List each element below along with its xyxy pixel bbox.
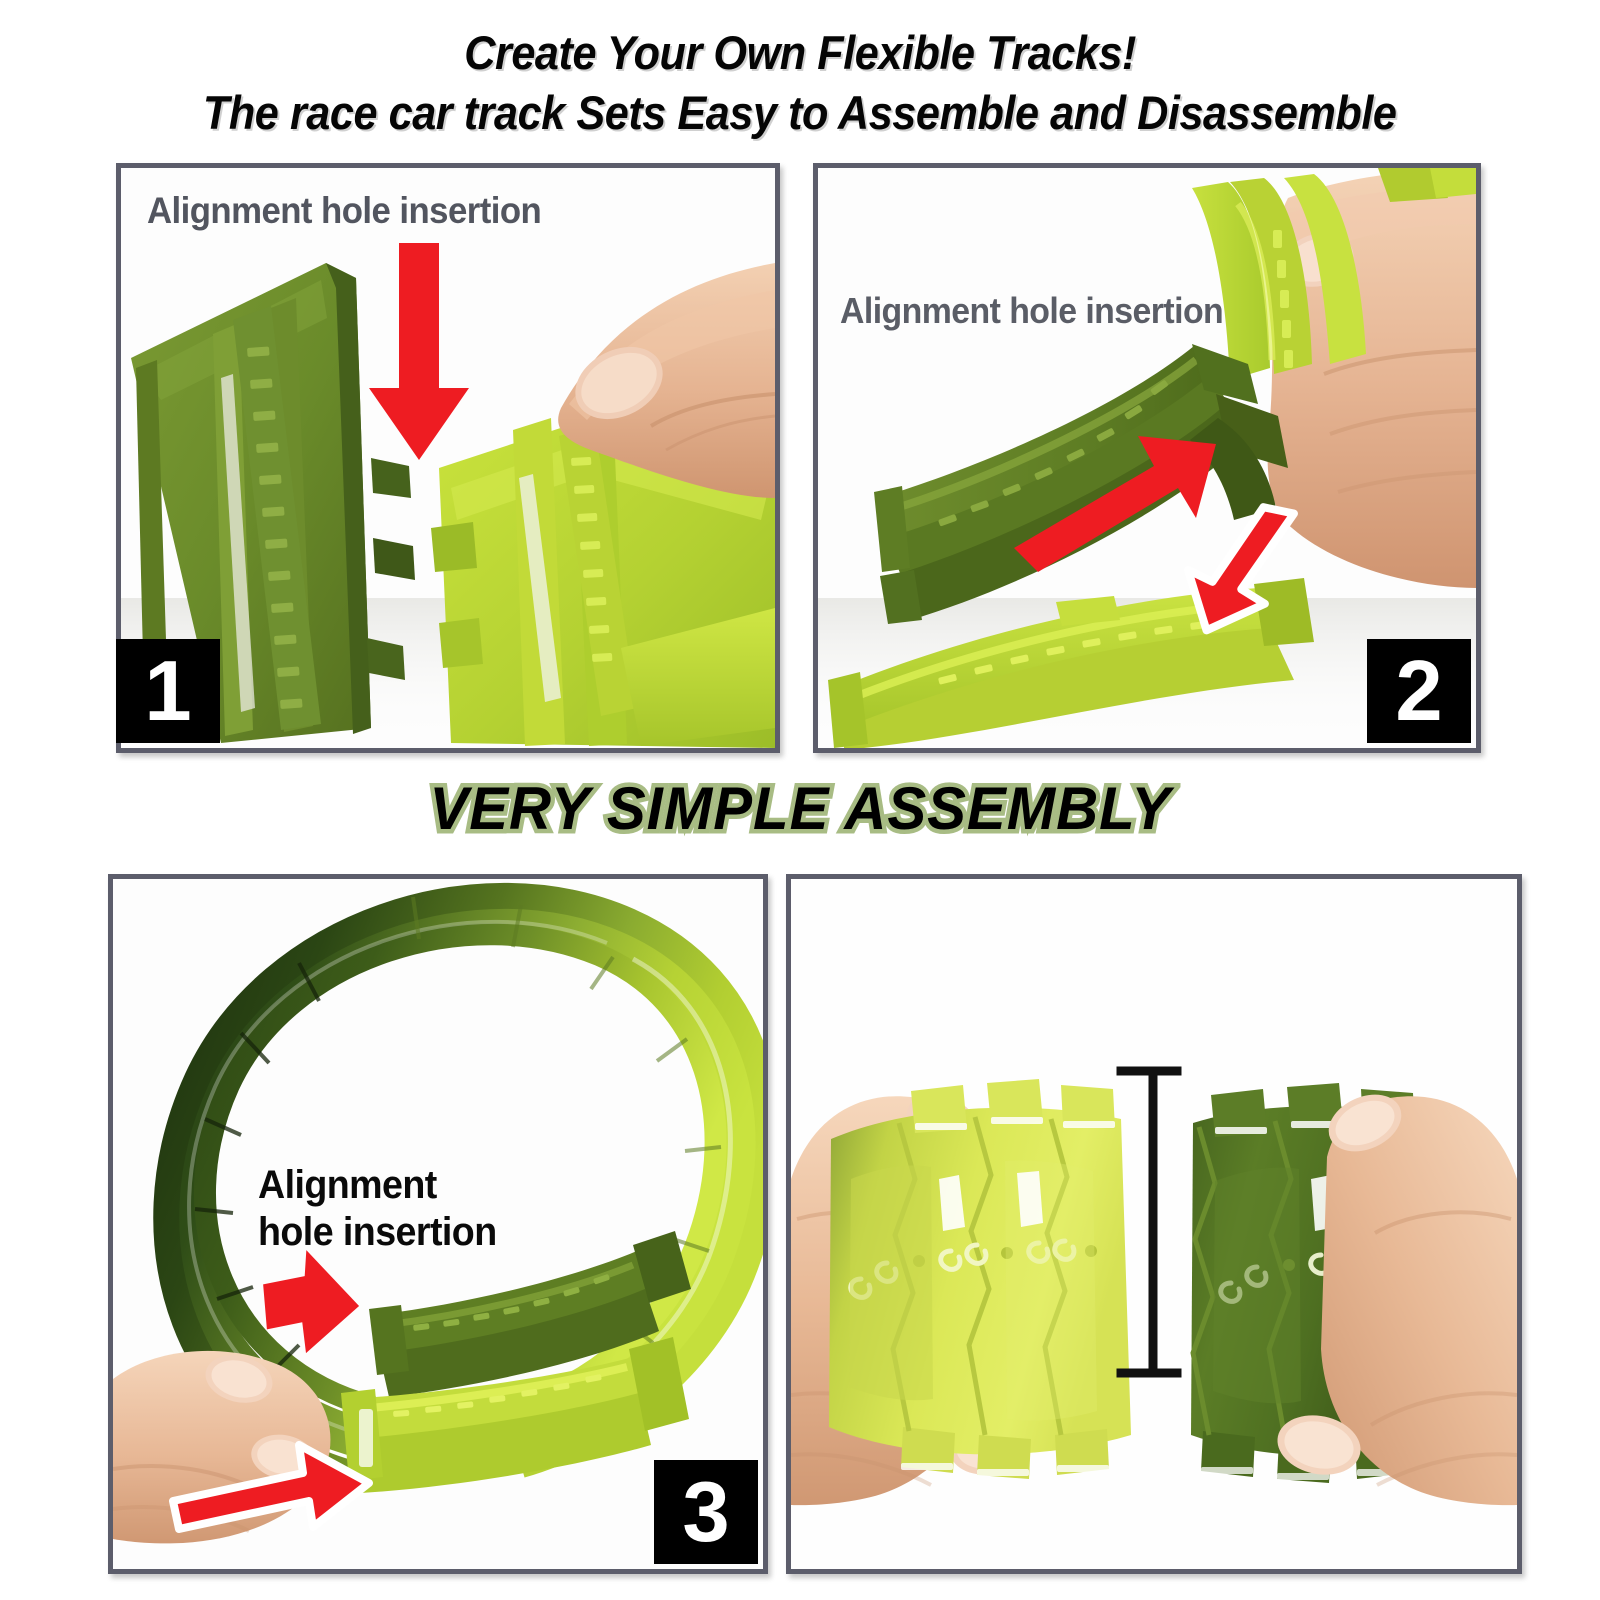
infographic-page: Create Your Own Flexible Tracks! The rac… xyxy=(0,0,1600,1600)
step-badge-2: 2 xyxy=(1367,639,1471,743)
hand-holding-track xyxy=(1268,168,1476,588)
panel-4-photo xyxy=(791,879,1517,1569)
header-line-1: Create Your Own Flexible Tracks! xyxy=(464,22,1136,84)
assembly-banner-text: VERY SIMPLE ASSEMBLY xyxy=(429,774,1171,843)
assembly-banner: VERY SIMPLE ASSEMBLY xyxy=(0,768,1600,848)
yellow-green-track-stack xyxy=(829,1079,1131,1479)
step-badge-3: 3 xyxy=(654,1460,758,1564)
header-line-2: The race car track Sets Easy to Assemble… xyxy=(203,82,1397,144)
header: Create Your Own Flexible Tracks! The rac… xyxy=(0,0,1600,150)
alignment-hole-insertion-label-1: Alignment hole insertion xyxy=(147,190,541,232)
caption-line-1: Alignment xyxy=(258,1163,437,1207)
step-panel-4[interactable]: 6.1cm xyxy=(786,874,1522,1574)
step-badge-1: 1 xyxy=(116,639,220,743)
panel-4-illustration xyxy=(791,879,1517,1569)
alignment-hole-insertion-label-3: Alignmenthole insertion xyxy=(258,1162,568,1256)
alignment-hole-insertion-label-2: Alignment hole insertion xyxy=(840,290,1223,332)
caption-line-2: hole insertion xyxy=(258,1210,497,1254)
